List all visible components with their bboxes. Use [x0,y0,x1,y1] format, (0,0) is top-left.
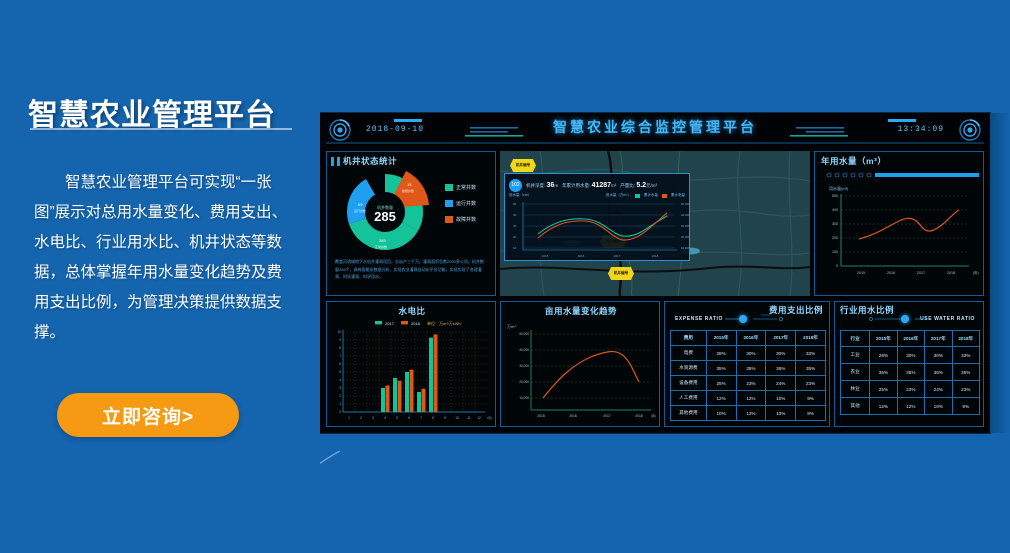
table-row: 其他 12% 12% 10% 9% [841,398,980,415]
svg-text:3: 3 [339,386,341,390]
cell: 12% [870,398,897,415]
svg-text:12: 12 [477,416,481,420]
col-header-4: 2018年 [796,331,826,346]
svg-text:(年): (年) [973,270,979,275]
svg-text:2016: 2016 [887,271,895,275]
svg-text:2017: 2017 [614,254,621,258]
svg-text:200: 200 [832,236,838,240]
svg-text:4: 4 [339,378,341,382]
title-tick-icon [331,157,334,166]
year-water-line-chart: 用水量(m³) 500400300 2001000 20152016 20172… [815,168,985,294]
year-water-y-label: 用水量(m³) [829,185,849,191]
col-header-0: 行业 [841,331,870,347]
row-name: 工业 [841,347,870,364]
wells-description: 覆盖河流域地下水机井灌溉项目，总亩产三千万。灌溉面积总数2000多公顷。机井数量… [335,258,485,281]
cell: 10% [766,406,796,421]
row-name: 电费 [671,346,707,361]
svg-text:40: 40 [513,213,517,217]
svg-text:2018: 2018 [635,414,643,418]
cell: 24% [766,376,796,391]
cell: 35% [796,361,826,376]
svg-text:5: 5 [339,370,341,374]
svg-text:2015: 2015 [857,271,865,275]
expense-connector-decoration [665,312,831,328]
cell: 24% [925,381,952,398]
wells-panel-title: 机井状态统计 [343,155,397,167]
col-header-1: 2015年 [706,331,736,346]
svg-text:1: 1 [339,402,341,406]
usewater-connector-decoration [835,312,985,328]
map-panel[interactable]: 机井编号 机井编号 机井编号 102 机井深度: 36m 年累计用水量: 412… [500,151,810,296]
legend-label-normal: 正常井数 [456,184,476,191]
svg-text:2018: 2018 [947,271,955,275]
row-name: 其他费用 [671,406,707,421]
cell: 33% [952,347,980,364]
svg-text:6: 6 [339,362,341,366]
svg-text:6: 6 [408,416,410,420]
svg-text:40,000: 40,000 [681,213,691,217]
cell: 9% [952,398,980,415]
svg-text:10: 10 [337,330,341,334]
use-water-ratio-panel: 行业用水比例 USE WATER RATIO 行业 2015年 2016年 20… [834,301,984,427]
ratio-bar-chart: 2017 2018 单位：万m³/万kWh [327,316,497,428]
dashboard-header: 智慧农业综合监控管理平台 2018-09-10 13:34:09 [320,113,990,147]
donut-seg-value-blue: 69 [358,202,363,207]
legend-swatch-orange-icon [662,194,667,198]
donut-seg-label-orange: 故障井数 [402,188,414,193]
year-water-title: 年用水量（m³） [821,155,886,167]
svg-text:2017: 2017 [917,271,925,275]
ratio-unit-label: 单位：万m³/万kWh [427,320,461,326]
legend-label-fault: 故障井数 [456,216,476,223]
cell: 35% [706,361,736,376]
svg-text:500: 500 [832,194,838,198]
table-header-row: 费用 2015年 2016年 2017年 2018年 [671,331,826,346]
ratio-x-unit: (月) [487,416,492,420]
consult-button[interactable]: 立即咨询> [57,393,239,437]
ratio-legend-2018: 2018 [411,321,421,326]
svg-text:50,000: 50,000 [519,332,529,336]
svg-text:2018: 2018 [652,254,659,258]
table-row: 电费 28% 30% 30% 33% [671,346,826,361]
svg-text:30,000: 30,000 [681,224,691,228]
col-header-1: 2015年 [870,331,897,347]
col-header-2: 2016年 [897,331,924,347]
cell: 35% [736,361,766,376]
cell: 36% [766,361,796,376]
cell: 25% [706,376,736,391]
cell: 30% [925,347,952,364]
svg-text:30: 30 [513,224,517,228]
svg-text:20,000: 20,000 [519,380,529,384]
popup-header: 102 机井深度: 36m 年累计用水量: 41287m³ 产量比: 5.2元/… [509,178,687,192]
cell: 33% [796,346,826,361]
cell: 9% [796,391,826,406]
svg-text:2: 2 [360,416,362,420]
legend-item-running: 运行井数 [445,200,476,207]
svg-text:50: 50 [513,202,517,206]
cell: 23% [897,381,924,398]
year-water-panel: 年用水量（m³） 用水量(m³) 500400300 2001000 201 [814,151,984,296]
legend-item-fault: 故障井数 [445,216,476,223]
cell: 10% [766,391,796,406]
popup-badge: 102 [509,179,522,192]
svg-text:4: 4 [384,416,386,420]
cell: 23% [736,376,766,391]
map-marker-well-3[interactable]: 机井编号 [608,267,634,280]
marker-label: 机井编号 [614,271,628,276]
svg-text:2016: 2016 [578,254,585,258]
svg-text:400: 400 [832,208,838,212]
cell: 36% [925,364,952,381]
svg-text:40,000: 40,000 [519,348,529,352]
map-marker-well-1[interactable]: 机井编号 [510,159,536,172]
table-row: 人工费用 12% 12% 10% 9% [671,391,826,406]
cell: 12% [706,391,736,406]
row-name: 农业 [841,364,870,381]
svg-text:11: 11 [467,416,471,420]
cell: 23% [952,381,980,398]
svg-text:10: 10 [455,416,459,420]
dashboard-screenshot: 智慧农业综合监控管理平台 2018-09-10 13:34:09 机井状态统计 [320,113,990,433]
promo-description: 智慧农业管理平台可实现“一张图”展示对总用水量变化、费用支出、水电比、行业用水比… [34,168,294,348]
marker-label: 机井编号 [516,163,530,168]
donut-center-value: 285 [374,209,396,224]
svg-text:100: 100 [832,250,838,254]
cell: 12% [736,391,766,406]
use-water-ratio-table: 行业 2015年 2016年 2017年 2018年 工业 28% 30% 30… [840,330,980,415]
cell: 9% [796,406,826,421]
cell: 30% [897,347,924,364]
svg-text:9: 9 [339,338,341,342]
svg-text:8: 8 [339,346,341,350]
cell: 12% [736,406,766,421]
cell: 35% [952,364,980,381]
cell: 35% [870,364,897,381]
svg-text:20: 20 [513,235,517,239]
svg-text:20,000: 20,000 [681,235,691,239]
right-edge-strip [990,113,1010,433]
title-tick-icon [337,157,340,166]
legend-item-normal: 正常井数 [445,184,476,191]
legend-label-running: 运行井数 [456,200,476,207]
svg-text:8: 8 [432,416,434,420]
svg-text:300: 300 [832,222,838,226]
table-row: 林业 25% 23% 24% 23% [841,381,980,398]
svg-text:2017: 2017 [603,414,611,418]
ratio-legend-2017: 2017 [385,321,395,326]
svg-text:2: 2 [339,394,341,398]
popup-field-ratio: 产量比: 5.2元/m³ [620,182,657,189]
svg-text:1: 1 [348,416,350,420]
trend-x-unit: (年) [651,413,656,418]
table-row: 设备费用 25% 23% 24% 23% [671,376,826,391]
title-underline [30,128,292,130]
trend-y-label: 万m³ [507,324,516,329]
svg-text:5: 5 [396,416,398,420]
donut-seg-label-blue: 运行井数 [354,208,366,213]
svg-text:2016: 2016 [569,414,577,418]
legend-swatch-green-icon [635,194,640,198]
col-header-2: 2016年 [736,331,766,346]
cell: 10% [706,406,736,421]
cell: 28% [870,347,897,364]
donut-seg-value-orange: 15 [407,182,412,187]
well-detail-popup: 102 机井深度: 36m 年累计用水量: 41287m³ 产量比: 5.2元/… [504,173,690,261]
row-name: 设备费用 [671,376,707,391]
table-row: 农业 35% 35% 36% 35% [841,364,980,381]
cell: 25% [870,381,897,398]
svg-text:0: 0 [339,410,341,414]
popup-field-depth: 机井深度: 36m [526,182,558,189]
area-water-trend-panel: 亩用水量变化趋势 万m³ 50,00040,00030,000 20,00010… [500,301,660,427]
table-row: 水资源费 35% 35% 36% 35% [671,361,826,376]
expense-ratio-panel: 费用支出比例 EXPENSE RATIO 费用 2015年 2016年 2017… [664,301,830,427]
svg-text:30,000: 30,000 [519,364,529,368]
svg-text:7: 7 [339,354,341,358]
expense-ratio-table: 费用 2015年 2016年 2017年 2018年 电费 28% 30% 30… [670,330,826,421]
svg-text:10: 10 [513,246,517,250]
donut-seg-label-green: 正常井数 [375,244,387,249]
legend-swatch-blue-icon [445,200,453,207]
row-name: 其他 [841,398,870,415]
col-header-4: 2018年 [952,331,980,347]
cell: 10% [925,398,952,415]
table-header-row: 行业 2015年 2016年 2017年 2018年 [841,331,980,347]
cell: 30% [766,346,796,361]
cell: 30% [736,346,766,361]
svg-text:0: 0 [836,264,838,268]
row-name: 人工费用 [671,391,707,406]
popup-field-volume: 年累计用水量: 41287m³ [562,182,616,189]
svg-text:9: 9 [444,416,446,420]
svg-text:7: 7 [420,416,422,420]
trend-line-chart: 万m³ 50,00040,00030,000 20,00010,000 2015… [501,316,661,428]
wells-donut-chart: 机井数量 285 69 运行井数 285 正常井数 15 故障井数 [331,168,439,256]
svg-text:2015: 2015 [542,254,549,258]
wells-legend: 正常井数 运行井数 故障井数 [445,184,476,232]
col-header-0: 费用 [671,331,707,346]
col-header-3: 2017年 [766,331,796,346]
legend-swatch-orange-icon [445,216,453,223]
header-decoration [320,113,990,147]
svg-text:2015: 2015 [537,414,545,418]
cell: 12% [897,398,924,415]
cell: 35% [897,364,924,381]
promo-panel: 智慧农业管理平台 智慧农业管理平台可实现“一张图”展示对总用水量变化、费用支出、… [0,0,320,553]
cell: 23% [796,376,826,391]
legend-swatch-green-icon [445,184,453,191]
cell: 28% [706,346,736,361]
donut-seg-value-green: 285 [379,238,386,243]
svg-text:50,000: 50,000 [681,202,691,206]
svg-text:10,000: 10,000 [681,246,691,250]
svg-text:3: 3 [372,416,374,420]
col-header-3: 2017年 [925,331,952,347]
popup-line-chart: 504030 2010 50,00040,00030,000 20,00010,… [505,198,691,262]
row-name: 林业 [841,381,870,398]
water-power-ratio-panel: 水电比 2017 2018 单位：万m³/万kWh [326,301,496,427]
wells-status-panel: 机井状态统计 机井数量 285 69 运行井数 285 正常井数 15 故障井数 [326,151,496,296]
svg-text:10,000: 10,000 [519,396,529,400]
table-row: 工业 28% 30% 30% 33% [841,347,980,364]
row-name: 水资源费 [671,361,707,376]
table-row: 其他费用 10% 12% 10% 9% [671,406,826,421]
